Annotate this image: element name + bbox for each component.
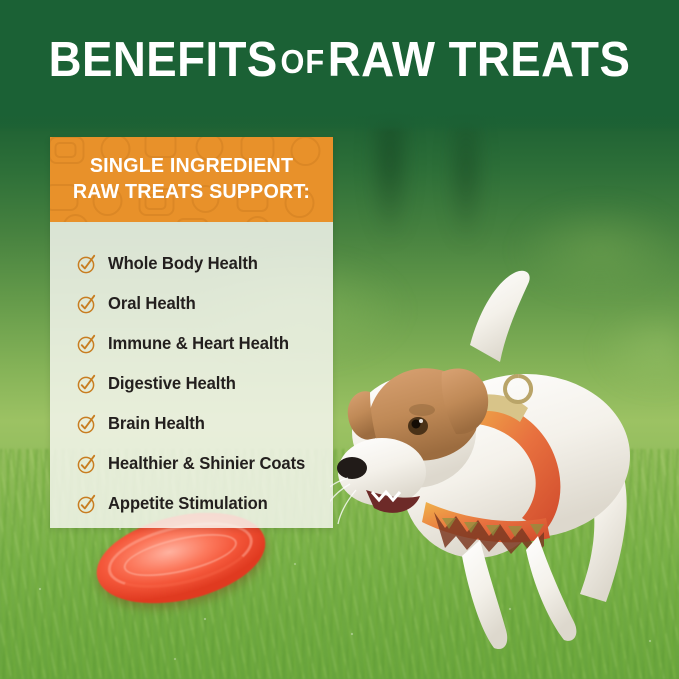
list-item-label: Brain Health [108,415,205,433]
dog-photo [330,250,679,679]
benefits-card: SINGLE INGREDIENT RAW TREATS SUPPORT: Wh… [50,137,333,528]
list-item: Appetite Stimulation [76,484,333,524]
list-item: Digestive Health [76,364,333,404]
list-item: Whole Body Health [76,244,333,284]
title-part-2: RAW TREATS [328,33,631,87]
check-circle-icon [76,374,96,394]
check-circle-icon [76,494,96,514]
list-item: Healthier & Shinier Coats [76,444,333,484]
list-item: Immune & Heart Health [76,324,333,364]
list-item: Oral Health [76,284,333,324]
title-part-of: OF [278,43,328,80]
check-circle-icon [76,254,96,274]
page-title: BENEFITSOFRAW TREATS [24,36,655,85]
card-header: SINGLE INGREDIENT RAW TREATS SUPPORT: [50,137,333,222]
card-header-line-1: SINGLE INGREDIENT [56,153,328,179]
list-item-label: Healthier & Shinier Coats [108,455,305,473]
list-item-label: Digestive Health [108,375,236,393]
check-circle-icon [76,294,96,314]
check-circle-icon [76,334,96,354]
check-circle-icon [76,454,96,474]
list-item-label: Immune & Heart Health [108,335,289,353]
list-item: Brain Health [76,404,333,444]
list-item-label: Oral Health [108,295,196,313]
list-item-label: Whole Body Health [108,255,258,273]
card-header-title: SINGLE INGREDIENT RAW TREATS SUPPORT: [56,137,328,205]
check-circle-icon [76,414,96,434]
list-item-label: Appetite Stimulation [108,495,268,513]
card-header-line-2: RAW TREATS SUPPORT: [56,179,328,205]
benefits-list: Whole Body Health Oral Health [50,222,333,524]
title-part-1: BENEFITS [49,33,278,87]
poster: BENEFITSOFRAW TREATS [0,0,679,679]
